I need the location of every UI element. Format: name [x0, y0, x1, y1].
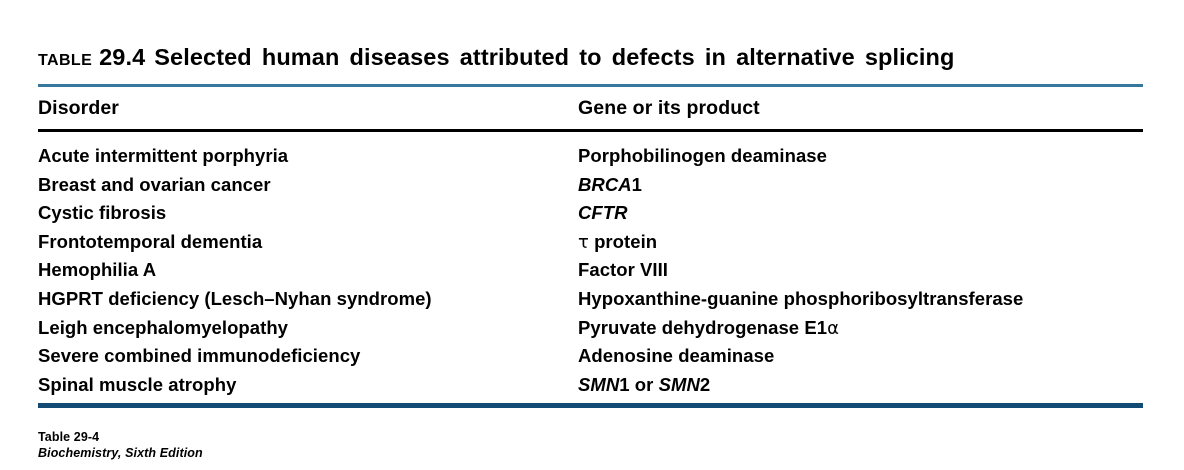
gene-text-part: 1 — [632, 174, 642, 195]
table-title: Table29.4Selected human diseases attribu… — [38, 42, 1148, 72]
table-row: HGPRT deficiency (Lesch–Nyhan syndrome)H… — [38, 288, 1148, 317]
gene-text-part: Porphobilinogen deaminase — [578, 145, 827, 166]
table-title-text: Selected human diseases attributed to de… — [154, 44, 954, 70]
rule-header — [38, 129, 1143, 132]
cell-disorder: Hemophilia A — [38, 259, 156, 281]
table-row: Breast and ovarian cancerBRCA1 — [38, 174, 1148, 203]
cell-disorder: Frontotemporal dementia — [38, 231, 262, 253]
table-title-number: 29.4 — [99, 44, 145, 70]
cell-gene: Adenosine deaminase — [578, 345, 774, 367]
gene-text-part: Adenosine deaminase — [578, 345, 774, 366]
rule-top — [38, 84, 1143, 87]
table-row: Frontotemporal dementiaτ protein — [38, 231, 1148, 260]
cell-gene: Porphobilinogen deaminase — [578, 145, 827, 167]
cell-disorder: Spinal muscle atrophy — [38, 374, 236, 396]
cell-gene: SMN1 or SMN2 — [578, 374, 710, 396]
column-header-disorder: Disorder — [38, 97, 119, 120]
cell-gene: Pyruvate dehydrogenase E1α — [578, 317, 839, 339]
table-row: Severe combined immunodeficiencyAdenosin… — [38, 345, 1148, 374]
gene-text-part: CFTR — [578, 202, 628, 223]
cell-disorder: HGPRT deficiency (Lesch–Nyhan syndrome) — [38, 288, 432, 310]
table-row: Cystic fibrosisCFTR — [38, 202, 1148, 231]
caption-source: Biochemistry, Sixth Edition — [38, 445, 203, 461]
cell-gene: BRCA1 — [578, 174, 642, 196]
gene-text-part: SMN — [578, 374, 619, 395]
caption-table-number: Table 29-4 — [38, 429, 203, 445]
gene-text-part: BRCA — [578, 174, 632, 195]
cell-disorder: Leigh encephalomyelopathy — [38, 317, 288, 339]
gene-text-part: Factor VIII — [578, 259, 668, 280]
table-row: Hemophilia AFactor VIII — [38, 259, 1148, 288]
gene-text-part: 2 — [700, 374, 710, 395]
cell-gene: CFTR — [578, 202, 628, 224]
gene-text-part: τ — [578, 232, 589, 253]
cell-gene: Hypoxanthine-guanine phosphoribosyltrans… — [578, 288, 1023, 310]
gene-text-part: SMN — [659, 374, 700, 395]
cell-gene: Factor VIII — [578, 259, 668, 281]
column-header-gene: Gene or its product — [578, 97, 760, 120]
gene-text-part: protein — [589, 231, 657, 252]
gene-text-part: Pyruvate dehydrogenase E1 — [578, 317, 827, 338]
table-body: Acute intermittent porphyriaPorphobilino… — [38, 145, 1148, 402]
gene-text-part: Hypoxanthine-guanine phosphoribosyltrans… — [578, 288, 1023, 309]
rule-bottom — [38, 403, 1143, 408]
cell-disorder: Acute intermittent porphyria — [38, 145, 288, 167]
cell-disorder: Severe combined immunodeficiency — [38, 345, 360, 367]
cell-gene: τ protein — [578, 231, 657, 253]
gene-text-part: 1 or — [619, 374, 658, 395]
cell-disorder: Cystic fibrosis — [38, 202, 166, 224]
table-figure: Table29.4Selected human diseases attribu… — [0, 0, 1184, 470]
table-row: Spinal muscle atrophySMN1 or SMN2 — [38, 374, 1148, 403]
table-row: Acute intermittent porphyriaPorphobilino… — [38, 145, 1148, 174]
gene-text-part: α — [827, 318, 839, 339]
table-title-label: Table — [38, 44, 92, 70]
table-row: Leigh encephalomyelopathyPyruvate dehydr… — [38, 317, 1148, 346]
cell-disorder: Breast and ovarian cancer — [38, 174, 271, 196]
figure-caption: Table 29-4 Biochemistry, Sixth Edition — [38, 429, 203, 461]
